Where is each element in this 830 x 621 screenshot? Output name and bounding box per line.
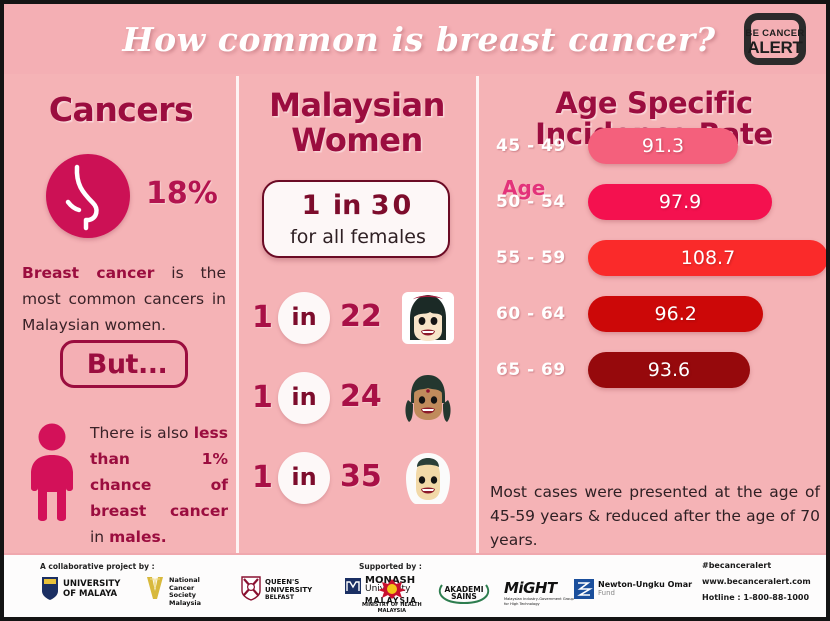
bar-row: 55 - 59108.7	[490, 238, 828, 282]
asir-note: Most cases were presented at the age of …	[490, 480, 820, 552]
bar-fill: 97.9	[588, 184, 772, 220]
ratio-in-malay: in	[278, 463, 330, 491]
ratio-one-malay: 1	[252, 460, 273, 495]
ratio-one-chinese: 1	[252, 300, 273, 335]
moh-line2: MALAYSIA	[362, 608, 422, 614]
ratio-value-chinese: 22	[340, 299, 382, 334]
bar-track: 108.7	[588, 240, 828, 276]
qub-line2: UNIVERSITY	[265, 586, 312, 594]
women-heading-line1: Malaysian	[240, 88, 474, 123]
ratio-in-indian: in	[278, 383, 330, 411]
bar-age-label: 50 - 54	[496, 192, 566, 212]
hashtag: #becanceralert	[702, 561, 826, 570]
contact-block: #becanceralert www.becanceralert.com Hot…	[702, 561, 826, 609]
supporters-caption: Supported by :	[359, 562, 422, 571]
national-cancer-society-malaysia-logo: National Cancer Society Malaysia	[144, 575, 201, 607]
svg-text:SAINS: SAINS	[451, 592, 477, 601]
qub-line3: BELFAST	[265, 594, 312, 602]
column-divider-1	[236, 76, 239, 554]
poster-footer: A collaborative project by : Supported b…	[4, 553, 826, 617]
poster-title: How common is breast cancer?	[104, 14, 734, 66]
uom-line1: UNIVERSITY	[63, 579, 120, 589]
all-females-caption: for all females	[264, 226, 452, 248]
bar-track: 91.3	[588, 128, 738, 164]
newton-line1: Newton-Ungku Omar	[598, 580, 692, 589]
ratio-value-malay: 35	[340, 459, 382, 494]
bar-track: 96.2	[588, 296, 763, 332]
akademi-sains-malaysia-logo: AKADEMI SAINS	[436, 579, 492, 610]
all-females-ratio-box: 1 in 30 for all females	[262, 180, 450, 258]
poster-header: How common is breast cancer? BE CANCER A…	[4, 4, 826, 74]
indian-woman-face-icon	[400, 370, 456, 426]
ratio-value-indian: 24	[340, 379, 382, 414]
bar-value-label: 97.9	[588, 191, 772, 213]
ratio-in-chinese: in	[278, 303, 330, 331]
bar-fill: 108.7	[588, 240, 828, 276]
might-sub1: Malaysian Industry-Government Group	[504, 597, 574, 602]
but-label: But...	[63, 349, 191, 380]
be-cancer-alert-logo: BE CANCER ALERT	[736, 10, 814, 68]
cancers-heading: Cancers	[8, 92, 234, 128]
might-logo: MiGHT Malaysian Industry-Government Grou…	[504, 579, 574, 606]
cancers-description: Breast cancer is the most common cancers…	[22, 260, 226, 338]
infographic-poster: How common is breast cancer? BE CANCER A…	[0, 0, 830, 621]
newton-line2: Fund	[598, 589, 692, 597]
ministry-of-health-malaysia-logo: MINISTRY OF HEALTH MALAYSIA	[362, 577, 422, 614]
bar-track: 93.6	[588, 352, 750, 388]
but-callout-box: But...	[60, 340, 188, 388]
bar-value-label: 108.7	[588, 247, 828, 269]
bar-fill: 96.2	[588, 296, 763, 332]
bar-row: 45 - 4991.3	[490, 126, 828, 170]
chinese-woman-face-icon	[400, 290, 456, 346]
bar-value-label: 91.3	[588, 135, 738, 157]
hotline: Hotline : 1-800-88-1000	[702, 593, 826, 602]
website-link[interactable]: www.becanceralert.com	[702, 577, 826, 586]
bar-age-label: 45 - 49	[496, 136, 566, 156]
ratio-row-malay: 1 in 35	[248, 450, 472, 510]
uom-line2: OF MALAYA	[63, 589, 120, 599]
males-bold-2: males.	[109, 528, 167, 546]
university-of-malaya-logo: UNIVERSITY OF MALAYA	[40, 575, 120, 601]
males-bold-1: less than 1% chance of breast cancer	[90, 424, 228, 520]
collaborators-caption: A collaborative project by :	[40, 562, 155, 571]
queens-university-belfast-logo: QUEEN'S UNIVERSITY BELFAST	[240, 575, 312, 602]
newton-ungku-omar-fund-logo: Newton-Ungku Omar Fund	[574, 579, 692, 599]
ratio-one-indian: 1	[252, 380, 273, 415]
bar-row: 60 - 6496.2	[490, 294, 828, 338]
asir-heading-line1: Age Specific	[480, 88, 828, 119]
male-person-icon	[22, 422, 82, 522]
males-description: There is also less than 1% chance of bre…	[90, 420, 228, 550]
bar-value-label: 93.6	[588, 359, 750, 381]
might-sub2: for High Technology	[504, 602, 574, 607]
all-females-ratio: 1 in 30	[264, 190, 452, 221]
column-divider-2	[476, 76, 479, 554]
cancers-description-bold: Breast cancer	[22, 264, 154, 282]
ratio-value: 30	[371, 190, 415, 221]
bar-age-label: 65 - 69	[496, 360, 566, 380]
ratio-row-indian: 1 in 24	[248, 370, 472, 430]
ratio-one: 1	[302, 190, 324, 221]
ratio-in-word: in	[333, 190, 361, 221]
bar-fill: 93.6	[588, 352, 750, 388]
column-malaysian-women: Malaysian Women 1 in 30 for all females …	[240, 82, 474, 552]
bar-row: 50 - 5497.9	[490, 182, 828, 226]
women-heading: Malaysian Women	[240, 88, 474, 157]
women-heading-line2: Women	[240, 123, 474, 158]
bar-age-label: 60 - 64	[496, 304, 566, 324]
breast-icon	[46, 154, 130, 238]
bar-age-label: 55 - 59	[496, 248, 566, 268]
bar-value-label: 96.2	[588, 303, 763, 325]
ncsm-line4: Malaysia	[169, 600, 201, 608]
qub-line1: QUEEN'S	[265, 578, 312, 586]
breast-statistic-row: 18%	[28, 152, 228, 242]
column-cancers: Cancers 18% Breast cancer is the most co…	[8, 82, 234, 552]
ratio-row-chinese: 1 in 22	[248, 290, 472, 350]
column-age-specific-incidence-rate: Age Specific Incidence Rate Age 45 - 499…	[480, 82, 828, 552]
might-wordmark: MiGHT	[504, 579, 574, 597]
breast-cancer-percentage: 18%	[146, 176, 218, 211]
bar-row: 65 - 6993.6	[490, 350, 828, 394]
bar-fill: 91.3	[588, 128, 738, 164]
logo-line2: ALERT	[736, 38, 814, 58]
bar-track: 97.9	[588, 184, 772, 220]
malay-woman-hijab-face-icon	[400, 450, 456, 506]
